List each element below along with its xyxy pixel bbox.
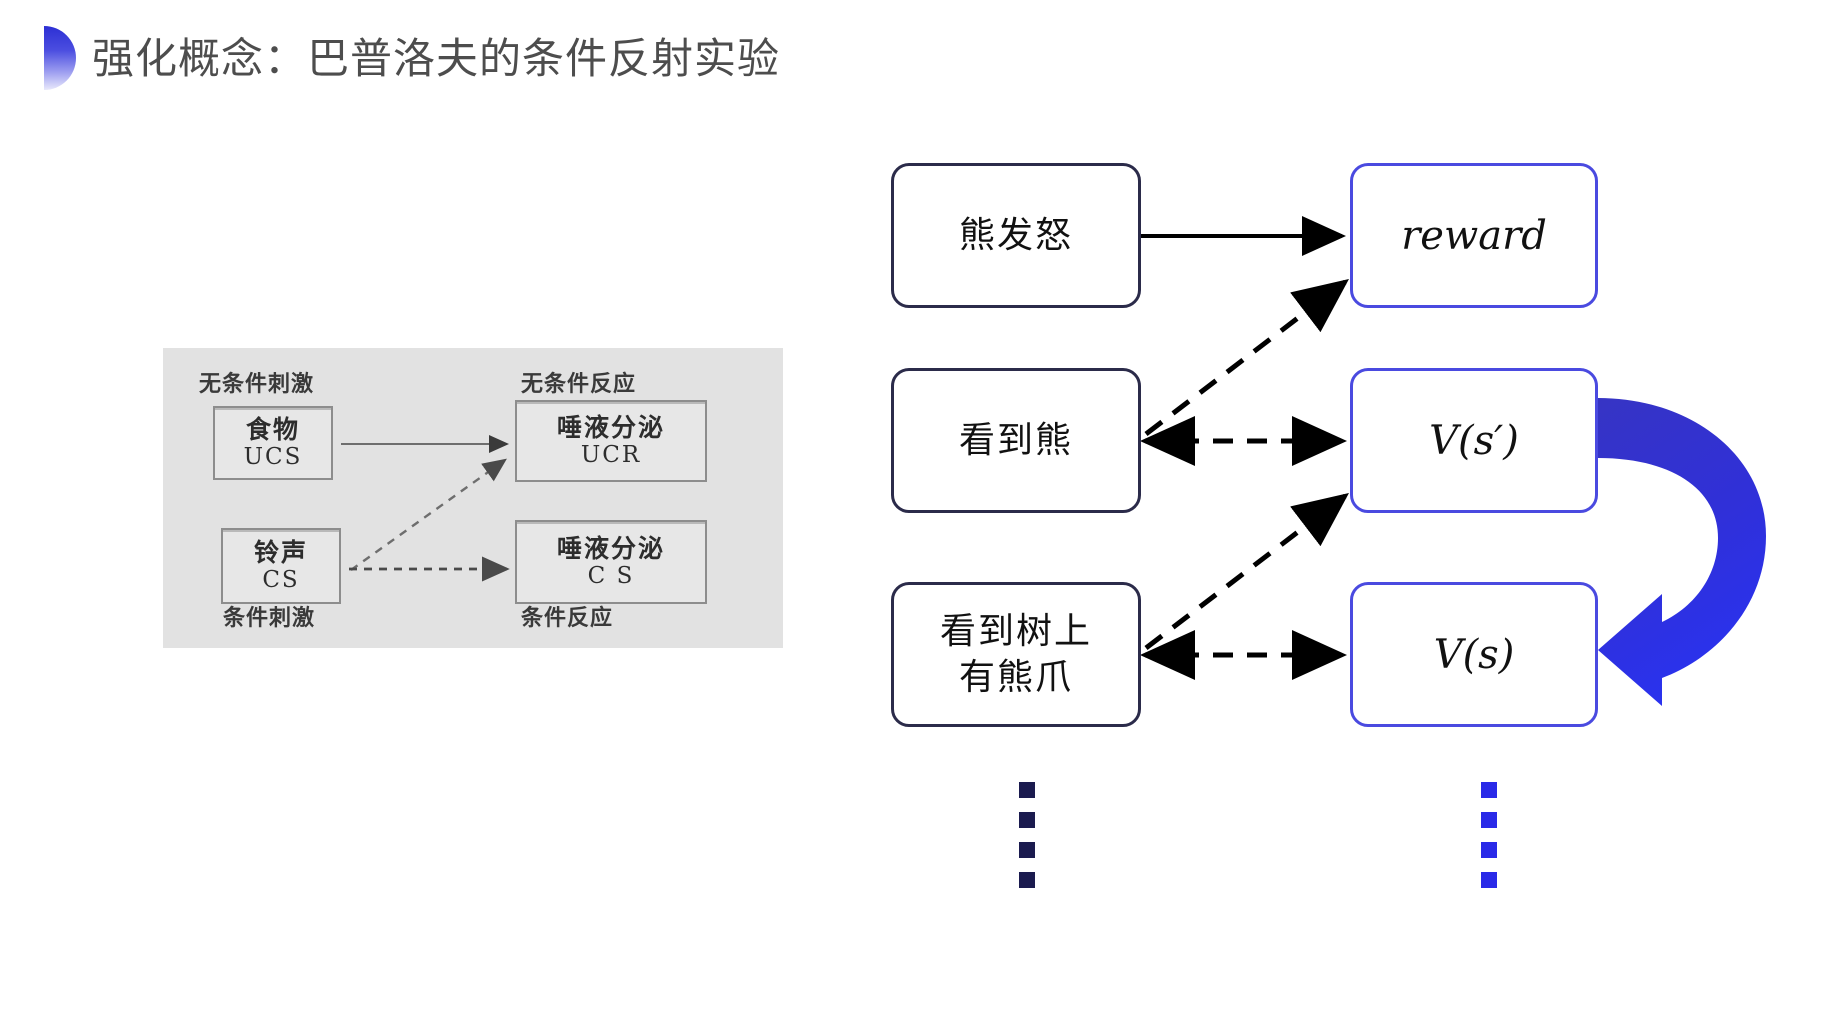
- ellipsis-dot: [1019, 782, 1035, 798]
- ellipsis-dot: [1481, 812, 1497, 828]
- node-reward[interactable]: reward: [1350, 163, 1598, 308]
- ellipsis-dot: [1481, 872, 1497, 888]
- ellipsis-dot: [1481, 842, 1497, 858]
- node-see-bear[interactable]: 看到熊: [891, 368, 1141, 513]
- ellipsis-dot: [1481, 782, 1497, 798]
- node-see-bear-claw-line2: 有熊爪: [959, 657, 1073, 698]
- node-value-s[interactable]: V(s): [1350, 582, 1598, 727]
- node-bear-angry[interactable]: 熊发怒: [891, 163, 1141, 308]
- node-see-bear-claw-line1: 看到树上: [940, 611, 1092, 652]
- ellipsis-dot: [1019, 812, 1035, 828]
- rl-value-diagram: 熊发怒 看到熊 看到树上 有熊爪 reward V(s′) V(s): [0, 0, 1826, 1022]
- curved-loop-arrow-icon: [1596, 396, 1796, 726]
- ellipsis-dots-right: [1481, 782, 1497, 888]
- ellipsis-dot: [1019, 842, 1035, 858]
- slide-canvas: 强化概念：巴普洛夫的条件反射实验 无条件刺激 无条件反应 条件刺激 条件反应 食…: [0, 0, 1826, 1022]
- node-value-s-prime-label: V(s′): [1429, 418, 1519, 464]
- node-bear-angry-label: 熊发怒: [959, 213, 1073, 259]
- node-value-s-label: V(s): [1434, 632, 1515, 678]
- node-reward-label: reward: [1401, 213, 1547, 259]
- ellipsis-dot: [1019, 872, 1035, 888]
- node-see-bear-label: 看到熊: [959, 418, 1073, 464]
- node-value-s-prime[interactable]: V(s′): [1350, 368, 1598, 513]
- ellipsis-dots-left: [1019, 782, 1035, 888]
- node-see-bear-claw[interactable]: 看到树上 有熊爪: [891, 582, 1141, 727]
- node-see-bear-claw-label: 看到树上 有熊爪: [940, 609, 1092, 701]
